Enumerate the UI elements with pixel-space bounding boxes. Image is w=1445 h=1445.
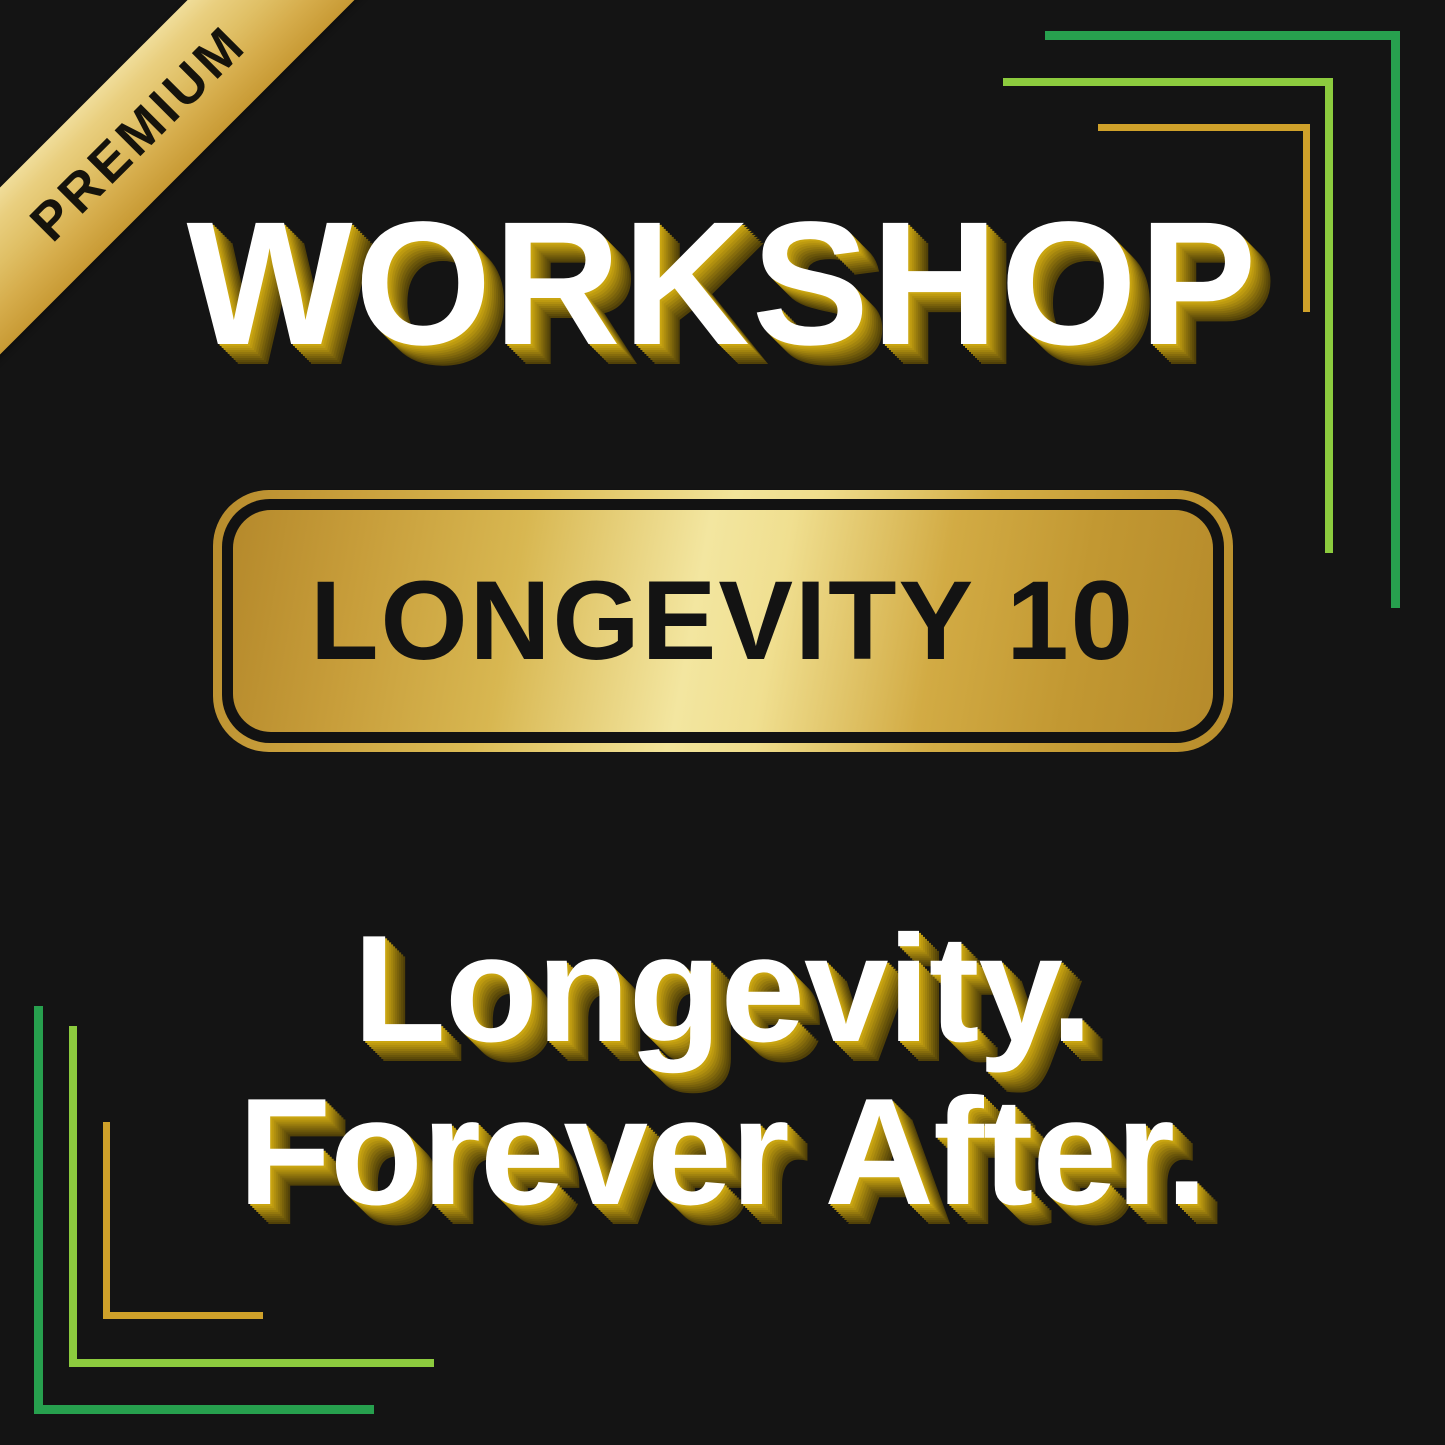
subtitle-line-1: Longevity. — [238, 908, 1207, 1071]
premium-ribbon: PREMIUM — [0, 0, 430, 430]
subtitle-line-2: Forever After. — [238, 1071, 1207, 1234]
subtitle-block: Longevity. Forever After. — [238, 908, 1207, 1233]
longevity-badge-gap: LONGEVITY 10 — [222, 499, 1224, 743]
longevity-badge: LONGEVITY 10 — [213, 490, 1233, 752]
longevity-badge-plate: LONGEVITY 10 — [233, 510, 1213, 732]
poster-canvas: PREMIUM WORKSHOP LONGEVITY 10 Longevity.… — [0, 0, 1445, 1445]
premium-ribbon-label: PREMIUM — [21, 16, 255, 250]
longevity-badge-label: LONGEVITY 10 — [310, 565, 1135, 677]
premium-ribbon-band: PREMIUM — [0, 0, 399, 394]
